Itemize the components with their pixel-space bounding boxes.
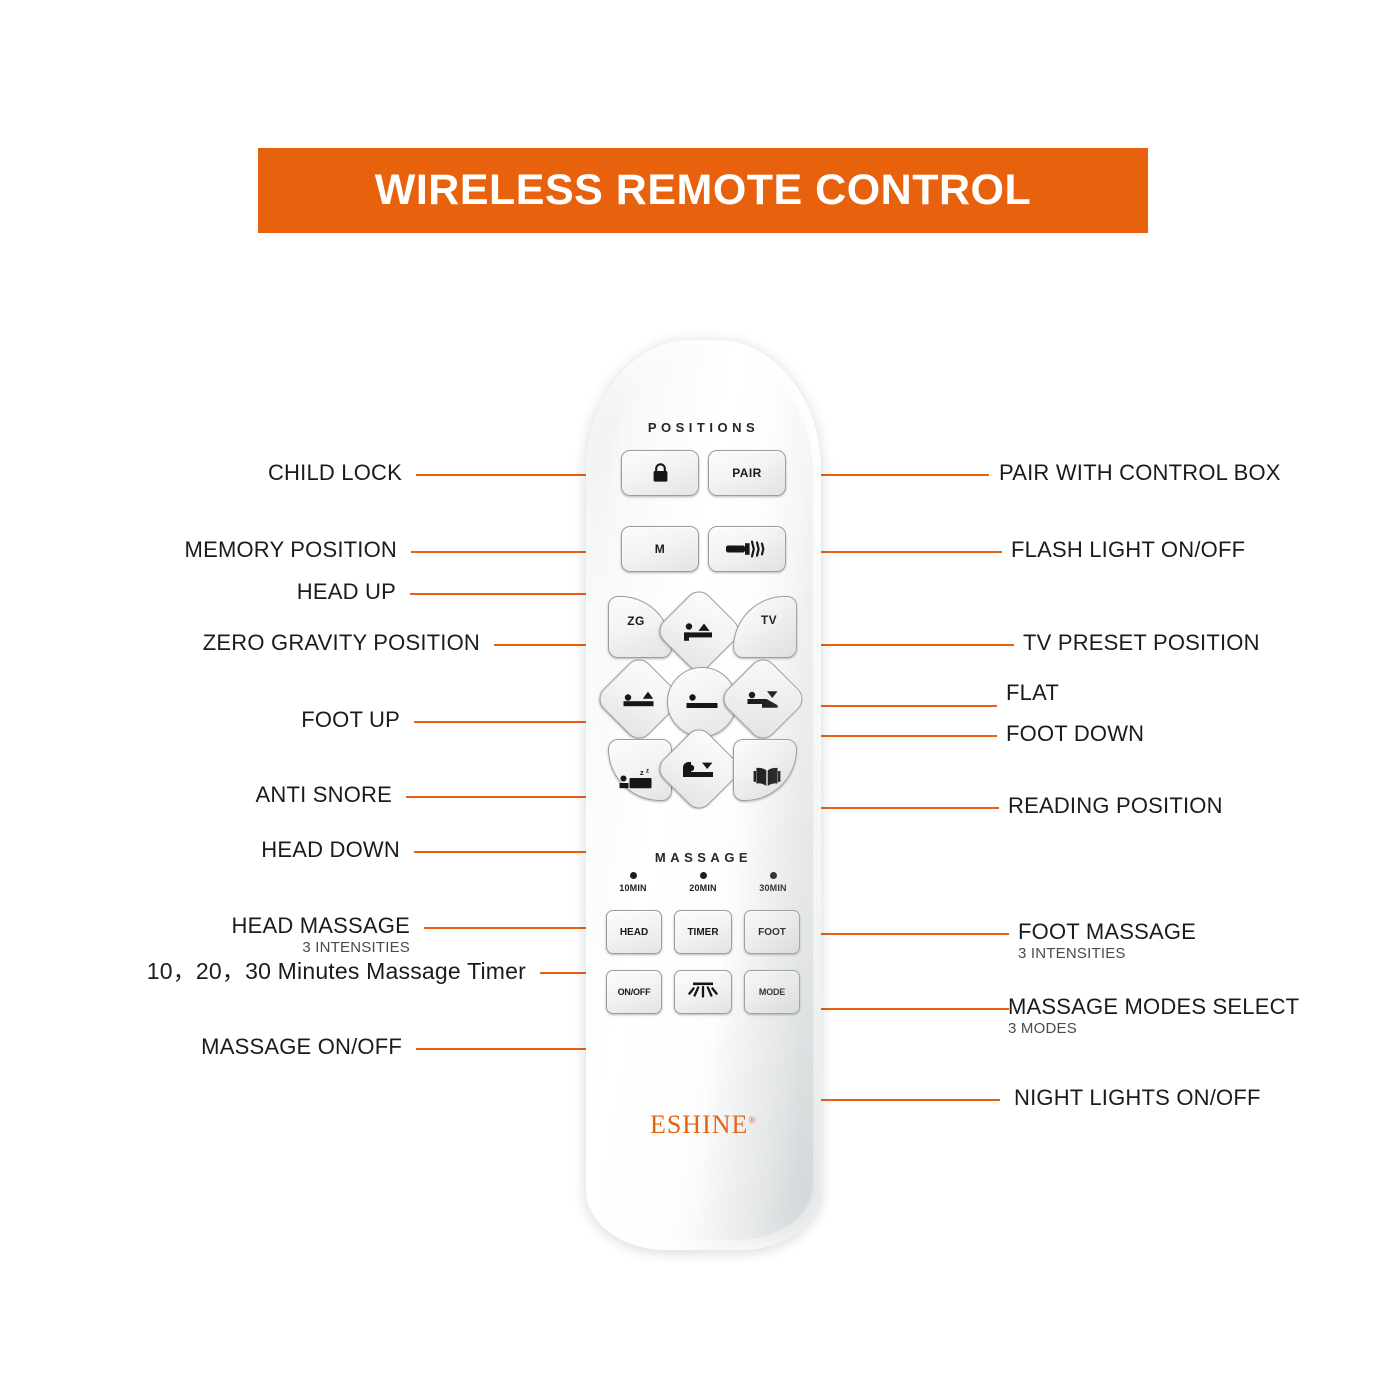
- leader-mode: [798, 1008, 1009, 1010]
- positions-section-label: POSITIONS: [586, 420, 821, 435]
- night-light-icon: [687, 980, 719, 1004]
- massage-onoff-button-label: ON/OFF: [618, 987, 651, 997]
- night-light-button[interactable]: [674, 970, 732, 1014]
- callout-reading-label: READING POSITION: [1008, 793, 1223, 818]
- head-massage-button-label: HEAD: [620, 927, 648, 938]
- tv-button-label: TV: [761, 613, 777, 627]
- foot-massage-button[interactable]: FOOT: [744, 910, 800, 954]
- callout-head-massage: HEAD MASSAGE 3 INTENSITIES: [232, 913, 410, 957]
- callout-zero-gravity-label: ZERO GRAVITY POSITION: [203, 630, 480, 655]
- callout-flat-label: FLAT: [1006, 680, 1059, 705]
- callout-massage-onoff-label: MASSAGE ON/OFF: [201, 1034, 402, 1059]
- callout-mode-label: MASSAGE MODES SELECT: [1008, 994, 1299, 1019]
- callout-flat: FLAT: [1006, 680, 1059, 706]
- reading-position-button[interactable]: [733, 739, 797, 801]
- brand-name: ESHINE: [650, 1110, 748, 1139]
- callout-foot-massage-sub: 3 INTENSITIES: [1018, 945, 1196, 963]
- callout-memory-label: MEMORY POSITION: [185, 537, 397, 562]
- head-down-button[interactable]: [654, 724, 745, 815]
- callout-timer-label: 10，20，30 Minutes Massage Timer: [147, 958, 526, 984]
- head-up-icon: [680, 620, 718, 642]
- callout-foot-massage: FOOT MASSAGE 3 INTENSITIES: [1018, 919, 1196, 963]
- callout-head-down-label: HEAD DOWN: [261, 837, 400, 862]
- massage-mode-button[interactable]: MODE: [744, 970, 800, 1014]
- flashlight-icon: [725, 539, 769, 559]
- led-dot-icon: [630, 872, 637, 879]
- child-lock-button[interactable]: [621, 450, 699, 496]
- brand-trademark: ®: [748, 1115, 757, 1126]
- callout-memory: MEMORY POSITION: [185, 537, 397, 563]
- callout-pair: PAIR WITH CONTROL BOX: [999, 460, 1281, 486]
- flat-icon: [684, 692, 720, 712]
- head-up-button[interactable]: [654, 586, 745, 677]
- timer-led-20min-label: 20MIN: [674, 883, 732, 893]
- callout-anti-snore-label: ANTI SNORE: [256, 782, 392, 807]
- callout-zero-gravity: ZERO GRAVITY POSITION: [203, 630, 480, 656]
- page-root: WIRELESS REMOTE CONTROL: [0, 0, 1400, 1400]
- pair-button[interactable]: PAIR: [708, 450, 786, 496]
- foot-down-button[interactable]: [718, 654, 809, 745]
- callout-head-down: HEAD DOWN: [261, 837, 400, 863]
- memory-position-button[interactable]: M: [621, 526, 699, 572]
- callout-head-massage-sub: 3 INTENSITIES: [232, 939, 410, 957]
- timer-led-30min-label: 30MIN: [744, 883, 802, 893]
- brand-logo: ESHINE®: [586, 1110, 821, 1140]
- led-dot-icon: [770, 872, 777, 879]
- massage-mode-button-label: MODE: [759, 987, 785, 997]
- callout-night-light: NIGHT LIGHTS ON/OFF: [1014, 1085, 1261, 1111]
- callout-head-massage-label: HEAD MASSAGE: [232, 913, 410, 938]
- head-massage-button[interactable]: HEAD: [606, 910, 662, 954]
- timer-led-20min: 20MIN: [674, 872, 732, 893]
- leader-tv: [799, 644, 1014, 646]
- callout-night-light-label: NIGHT LIGHTS ON/OFF: [1014, 1085, 1261, 1110]
- book-icon: [753, 765, 781, 789]
- remote-control-body: POSITIONS PAIR M: [586, 340, 821, 1250]
- callout-flashlight: FLASH LIGHT ON/OFF: [1011, 537, 1245, 563]
- callout-child-lock-label: CHILD LOCK: [268, 460, 402, 485]
- massage-onoff-button[interactable]: ON/OFF: [606, 970, 662, 1014]
- foot-massage-button-label: FOOT: [758, 927, 786, 938]
- callout-anti-snore: ANTI SNORE: [256, 782, 392, 808]
- head-down-icon: [680, 758, 718, 780]
- zero-gravity-button-label: ZG: [627, 614, 644, 628]
- massage-timer-button[interactable]: TIMER: [674, 910, 732, 954]
- callout-massage-onoff: MASSAGE ON/OFF: [201, 1034, 402, 1060]
- massage-timer-led-row: 10MIN 20MIN 30MIN: [586, 872, 821, 912]
- callout-foot-up-label: FOOT UP: [301, 707, 400, 732]
- callout-foot-down: FOOT DOWN: [1006, 721, 1144, 747]
- callout-pair-label: PAIR WITH CONTROL BOX: [999, 460, 1281, 485]
- callout-tv: TV PRESET POSITION: [1023, 630, 1260, 656]
- leader-reading: [802, 807, 999, 809]
- callout-head-up: HEAD UP: [297, 579, 396, 605]
- massage-section-label: MASSAGE: [586, 850, 821, 865]
- memory-button-label: M: [655, 542, 665, 556]
- callout-tv-label: TV PRESET POSITION: [1023, 630, 1260, 655]
- svg-text:z: z: [646, 769, 649, 775]
- tv-preset-button[interactable]: TV: [733, 596, 797, 658]
- timer-led-30min: 30MIN: [744, 872, 802, 893]
- callout-mode-sub: 3 MODES: [1008, 1020, 1299, 1038]
- page-title: WIRELESS REMOTE CONTROL: [375, 166, 1032, 215]
- leader-foot-massage: [798, 933, 1009, 935]
- callout-mode: MASSAGE MODES SELECT 3 MODES: [1008, 994, 1299, 1038]
- callout-foot-down-label: FOOT DOWN: [1006, 721, 1144, 746]
- callout-head-up-label: HEAD UP: [297, 579, 396, 604]
- pair-button-label: PAIR: [732, 466, 761, 480]
- callout-foot-up: FOOT UP: [301, 707, 400, 733]
- flashlight-button[interactable]: [708, 526, 786, 572]
- callout-reading: READING POSITION: [1008, 793, 1223, 819]
- anti-snore-icon: z z: [619, 767, 655, 789]
- foot-up-icon: [620, 688, 658, 710]
- massage-timer-button-label: TIMER: [687, 927, 718, 938]
- callout-foot-massage-label: FOOT MASSAGE: [1018, 919, 1196, 944]
- callout-child-lock: CHILD LOCK: [268, 460, 402, 486]
- timer-led-10min: 10MIN: [604, 872, 662, 893]
- led-dot-icon: [700, 872, 707, 879]
- svg-text:z: z: [640, 768, 644, 777]
- timer-led-10min-label: 10MIN: [604, 883, 662, 893]
- lock-icon: [652, 463, 669, 483]
- foot-down-icon: [744, 688, 782, 710]
- callout-timer: 10，20，30 Minutes Massage Timer: [147, 958, 526, 985]
- page-title-banner: WIRELESS REMOTE CONTROL: [258, 148, 1148, 233]
- leader-pair: [793, 474, 989, 476]
- callout-flashlight-label: FLASH LIGHT ON/OFF: [1011, 537, 1245, 562]
